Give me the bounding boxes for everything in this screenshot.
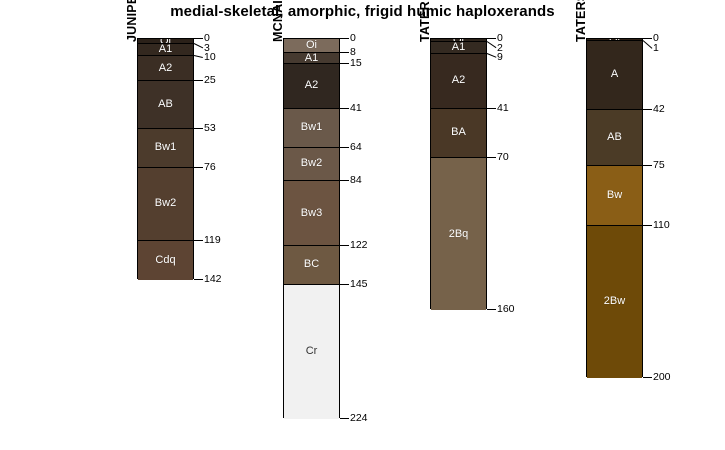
soil-horizon[interactable]: Bw bbox=[587, 166, 642, 225]
depth-tick-leader bbox=[487, 309, 496, 310]
depth-tick-leader bbox=[340, 284, 349, 285]
depth-tick-label: 64 bbox=[350, 142, 362, 153]
horizon-label: BA bbox=[451, 127, 466, 138]
horizon-label: Bw2 bbox=[155, 198, 176, 209]
depth-tick-leader bbox=[643, 225, 652, 226]
depth-tick-leader bbox=[643, 38, 652, 39]
depth-tick-leader bbox=[340, 63, 349, 64]
soil-horizon[interactable]: A2 bbox=[431, 54, 486, 108]
depth-tick-label: 76 bbox=[204, 162, 216, 173]
soil-horizon[interactable]: BC bbox=[284, 246, 339, 285]
soil-horizon[interactable]: A1 bbox=[431, 42, 486, 54]
soil-horizon[interactable]: BA bbox=[431, 109, 486, 158]
horizon-label: Bw1 bbox=[301, 122, 322, 133]
depth-tick-label: 15 bbox=[350, 58, 362, 69]
depth-tick-leader bbox=[487, 157, 496, 158]
profile-column[interactable]: OiAABBw2Bw bbox=[586, 38, 643, 377]
horizon-label: Oi bbox=[306, 40, 317, 51]
depth-tick-label: 8 bbox=[350, 47, 356, 58]
depth-tick-leader bbox=[194, 167, 203, 168]
horizon-label: A1 bbox=[159, 44, 172, 55]
depth-tick-label: 10 bbox=[204, 52, 216, 63]
horizon-label: Bw bbox=[607, 190, 622, 201]
depth-tick-label: 25 bbox=[204, 75, 216, 86]
horizon-label: Cdq bbox=[155, 255, 175, 266]
horizon-label: Bw3 bbox=[301, 208, 322, 219]
depth-tick-label: 160 bbox=[497, 304, 515, 315]
depth-tick-leader bbox=[194, 128, 203, 129]
horizon-label: A1 bbox=[452, 42, 465, 53]
horizon-label: A2 bbox=[305, 80, 318, 91]
depth-tick-leader bbox=[194, 279, 203, 280]
profile-site-name: TATER bbox=[418, 1, 432, 42]
depth-tick-leader bbox=[340, 418, 349, 419]
depth-tick-label: 42 bbox=[653, 104, 665, 115]
horizon-label: Bw2 bbox=[301, 158, 322, 169]
depth-tick-leader bbox=[643, 109, 652, 110]
soil-horizon[interactable]: Bw1 bbox=[284, 109, 339, 148]
soil-profile-plot: medial-skeletal, amorphic, frigid humic … bbox=[0, 0, 725, 450]
depth-tick-leader bbox=[643, 377, 652, 378]
depth-tick-leader bbox=[340, 108, 349, 109]
depth-tick-leader bbox=[643, 40, 653, 49]
soil-horizon[interactable]: 2Bq bbox=[431, 158, 486, 311]
depth-tick-leader bbox=[194, 240, 203, 241]
depth-tick-label: 110 bbox=[653, 220, 670, 231]
horizon-label: Cr bbox=[306, 346, 318, 357]
soil-horizon[interactable]: A2 bbox=[284, 64, 339, 108]
depth-tick-leader bbox=[487, 38, 496, 39]
depth-tick-label: 224 bbox=[350, 413, 368, 424]
profile-site-name: JUNIPERLAKE bbox=[125, 0, 139, 42]
depth-tick-leader bbox=[194, 55, 203, 58]
horizon-label: 2Bw bbox=[604, 296, 625, 307]
depth-tick-leader bbox=[487, 53, 496, 58]
depth-tick-leader bbox=[194, 43, 203, 48]
soil-horizon[interactable]: AB bbox=[138, 81, 193, 128]
horizon-label: BC bbox=[304, 259, 319, 270]
depth-tick-label: 70 bbox=[497, 152, 509, 163]
depth-tick-leader bbox=[340, 245, 349, 246]
soil-horizon[interactable]: A1 bbox=[284, 53, 339, 65]
depth-tick-label: 0 bbox=[350, 33, 356, 44]
depth-tick-leader bbox=[643, 165, 652, 166]
profile-site-name: MCNAIR bbox=[271, 0, 285, 42]
soil-horizon[interactable]: Bw1 bbox=[138, 129, 193, 168]
depth-tick-leader bbox=[340, 38, 349, 39]
depth-tick-leader bbox=[340, 180, 349, 181]
horizon-label: 2Bq bbox=[449, 229, 469, 240]
horizon-label: AB bbox=[158, 99, 173, 110]
profile-column[interactable]: OiA1A2ABBw1Bw2Cdq bbox=[137, 38, 194, 279]
depth-tick-label: 142 bbox=[204, 274, 222, 285]
depth-tick-label: 84 bbox=[350, 175, 362, 186]
depth-tick-label: 122 bbox=[350, 240, 368, 251]
depth-tick-label: 53 bbox=[204, 123, 216, 134]
depth-tick-label: 200 bbox=[653, 372, 671, 383]
profile-site-name: TATERSOUP bbox=[574, 0, 588, 42]
soil-horizon[interactable]: Bw2 bbox=[284, 148, 339, 182]
horizon-label: A2 bbox=[159, 63, 172, 74]
soil-horizon[interactable]: Bw3 bbox=[284, 181, 339, 245]
depth-tick-label: 119 bbox=[204, 235, 221, 246]
soil-horizon[interactable]: Oi bbox=[284, 39, 339, 53]
depth-tick-label: 75 bbox=[653, 160, 665, 171]
depth-tick-leader bbox=[194, 80, 203, 81]
horizon-label: AB bbox=[607, 132, 622, 143]
horizon-label: Bw1 bbox=[155, 142, 176, 153]
depth-tick-label: 9 bbox=[497, 52, 503, 63]
depth-tick-label: 41 bbox=[350, 103, 362, 114]
depth-tick-leader bbox=[487, 108, 496, 109]
depth-tick-leader bbox=[487, 41, 497, 48]
profile-column[interactable]: OiA1A2BA2Bq bbox=[430, 38, 487, 309]
depth-tick-label: 145 bbox=[350, 279, 368, 290]
profile-column[interactable]: OiA1A2Bw1Bw2Bw3BCCr bbox=[283, 38, 340, 418]
soil-horizon[interactable]: A bbox=[587, 41, 642, 111]
soil-horizon[interactable]: Bw2 bbox=[138, 168, 193, 241]
soil-horizon[interactable]: AB bbox=[587, 110, 642, 166]
depth-tick-leader bbox=[194, 38, 203, 39]
page-title: medial-skeletal, amorphic, frigid humic … bbox=[0, 3, 725, 20]
soil-horizon[interactable]: A2 bbox=[138, 56, 193, 81]
horizon-label: A2 bbox=[452, 75, 465, 86]
depth-tick-leader bbox=[340, 52, 349, 53]
depth-tick-label: 1 bbox=[653, 43, 659, 54]
depth-tick-leader bbox=[340, 147, 349, 148]
horizon-label: A1 bbox=[305, 53, 318, 64]
soil-horizon[interactable]: 2Bw bbox=[587, 226, 642, 379]
soil-horizon[interactable]: Cdq bbox=[138, 241, 193, 280]
horizon-label: A bbox=[611, 69, 618, 80]
soil-horizon[interactable]: Cr bbox=[284, 285, 339, 419]
depth-tick-label: 41 bbox=[497, 103, 509, 114]
soil-horizon[interactable]: A1 bbox=[138, 44, 193, 56]
